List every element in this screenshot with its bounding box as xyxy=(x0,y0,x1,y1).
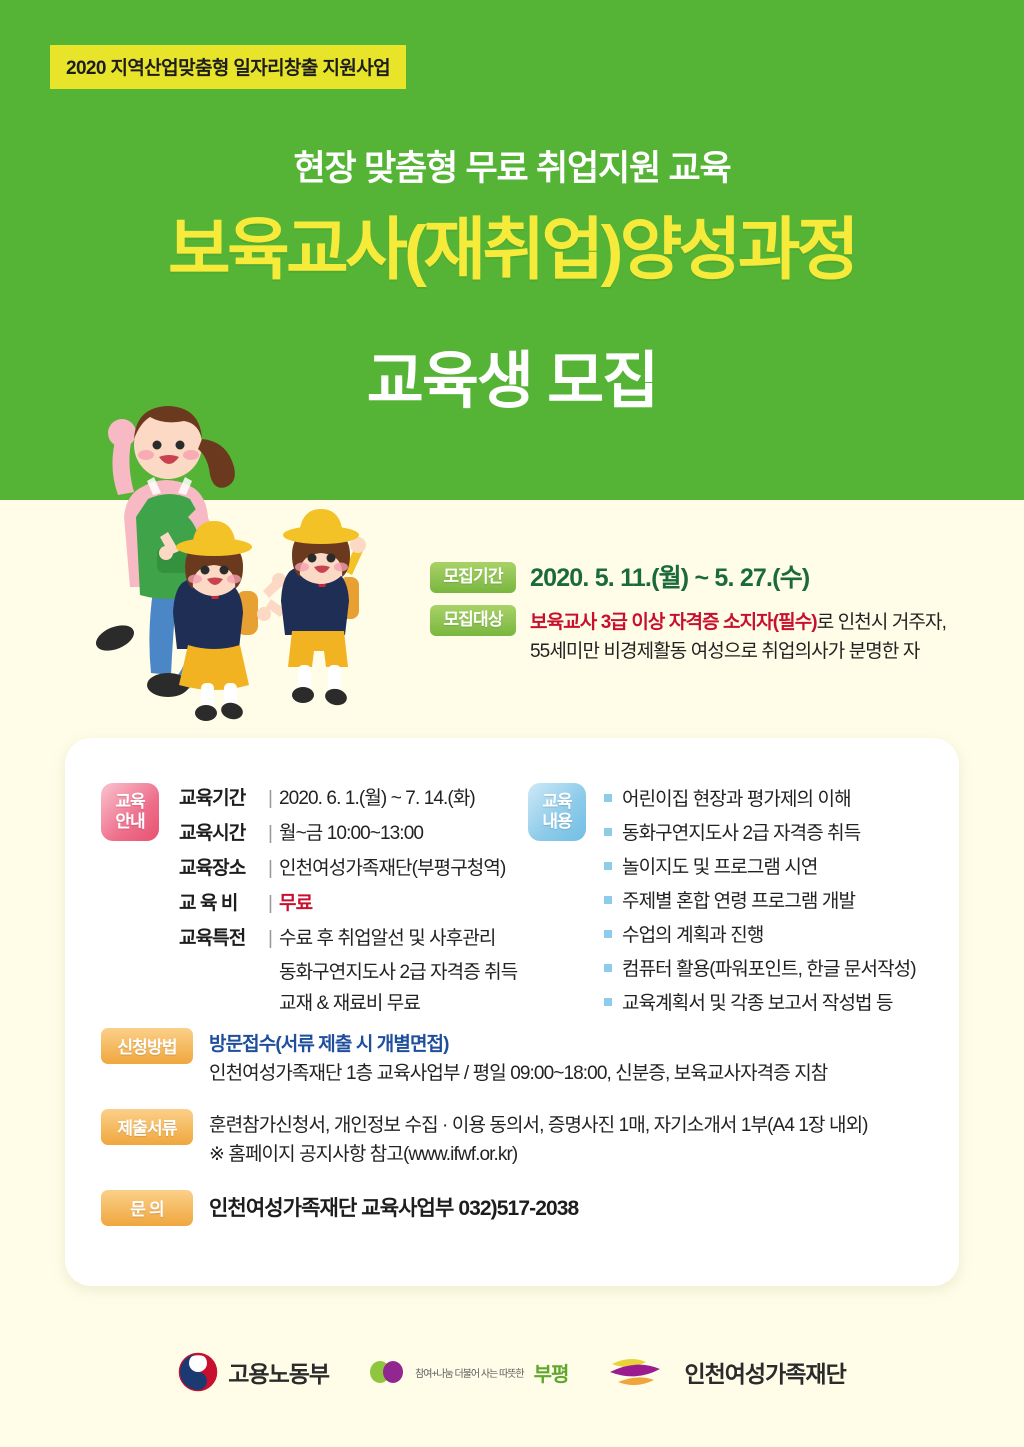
bullet-square-icon xyxy=(604,930,612,938)
curriculum-item: 놀이지도 및 프로그램 시연 xyxy=(604,852,916,879)
ifwf-ribbon-icon xyxy=(608,1354,674,1390)
bullet-square-icon xyxy=(604,794,612,802)
bullet-square-icon xyxy=(604,862,612,870)
education-info-list: 교육기간 | 2020. 6. 1.(월) ~ 7. 14.(화) 교육시간 |… xyxy=(179,783,517,1022)
recruit-target-rest: 로 인천시 거주자, xyxy=(817,612,946,633)
info-columns: 교육 안내 교육기간 | 2020. 6. 1.(월) ~ 7. 14.(화) … xyxy=(65,783,959,1022)
recruit-target-value: 보육교사 3급 이상 자격증 소지자(필수)로 인천시 거주자, 55세미만 비… xyxy=(530,605,946,667)
apply-documents-line1: 훈련참가신청서, 개인정보 수집 · 이용 동의서, 증명사진 1매, 자기소개… xyxy=(209,1111,868,1140)
education-info-badge-line1: 교육 xyxy=(115,792,144,812)
education-benefit-extra: 동화구연지도사 2급 자격증 취득 교재 & 재료비 무료 xyxy=(279,958,517,1020)
recruit-target-line2: 55세미만 비경제활동 여성으로 취업의사가 분명한 자 xyxy=(530,637,946,666)
row-key: 교육시간 xyxy=(179,818,261,845)
row-value: 수료 후 취업알선 및 사후관리 xyxy=(279,923,495,950)
education-info-row: 교 육 비 | 무료 xyxy=(179,888,517,915)
child-figure-right xyxy=(257,509,366,707)
row-separator: | xyxy=(261,823,279,845)
row-key: 교육기간 xyxy=(179,783,261,810)
curriculum-item-label: 교육계획서 및 각종 보고서 작성법 등 xyxy=(622,988,893,1015)
row-key: 교 육 비 xyxy=(179,888,261,915)
curriculum-item-label: 어린이집 현장과 평가제의 이해 xyxy=(622,784,851,811)
curriculum-item-label: 컴퓨터 활용(파워포인트, 한글 문서작성) xyxy=(622,954,916,981)
bullet-square-icon xyxy=(604,828,612,836)
apply-method-label: 신청방법 xyxy=(101,1028,193,1064)
benefit-extra-item: 교재 & 재료비 무료 xyxy=(279,989,517,1020)
recruit-target-label: 모집대상 xyxy=(430,605,516,636)
education-content-column: 교육 내용 어린이집 현장과 평가제의 이해 동화구연지도사 2급 자격증 취득… xyxy=(520,783,959,1022)
apply-inquiry-row: 문 의 인천여성가족재단 교육사업부 032)517-2038 xyxy=(101,1190,931,1226)
row-separator: | xyxy=(261,893,279,915)
education-content-badge: 교육 내용 xyxy=(528,783,586,841)
education-info-column: 교육 안내 교육기간 | 2020. 6. 1.(월) ~ 7. 14.(화) … xyxy=(65,783,520,1022)
poster-subtitle: 현장 맞춤형 무료 취업지원 교육 xyxy=(0,140,1024,191)
apply-block: 신청방법 방문접수(서류 제출 시 개별면접) 인천여성가족재단 1층 교육사업… xyxy=(101,1028,931,1246)
curriculum-item: 컴퓨터 활용(파워포인트, 한글 문서작성) xyxy=(604,954,916,981)
apply-inquiry-value: 인천여성가족재단 교육사업부 032)517-2038 xyxy=(209,1190,578,1222)
benefit-extra-item: 동화구연지도사 2급 자격증 취득 xyxy=(279,958,517,989)
apply-documents-row: 제출서류 훈련참가신청서, 개인정보 수집 · 이용 동의서, 증명사진 1매,… xyxy=(101,1109,931,1170)
education-info-badge: 교육 안내 xyxy=(101,783,159,841)
row-value: 인천여성가족재단(부평구청역) xyxy=(279,853,505,880)
recruit-period-label: 모집기간 xyxy=(430,562,516,593)
logo-bupyeong-label: 부평 xyxy=(534,1358,569,1387)
curriculum-item-label: 주제별 혼합 연령 프로그램 개발 xyxy=(622,886,855,913)
curriculum-item-label: 수업의 계획과 진행 xyxy=(622,920,763,947)
bupyeong-icon xyxy=(369,1359,405,1385)
logo-moel: 고용노동부 xyxy=(178,1352,329,1392)
education-info-row: 교육특전 | 수료 후 취업알선 및 사후관리 xyxy=(179,923,517,950)
moel-taegeuk-icon xyxy=(178,1352,218,1392)
curriculum-item: 어린이집 현장과 평가제의 이해 xyxy=(604,784,916,811)
bullet-square-icon xyxy=(604,896,612,904)
logo-bupyeong-tagline: 참여+나눔 더불어 사는 따뜻한 xyxy=(415,1365,524,1380)
recruit-target-highlight: 보육교사 3급 이상 자격증 소지자(필수) xyxy=(530,612,817,633)
education-content-badge-line1: 교육 xyxy=(542,792,571,812)
program-badge: 2020 지역산업맞춤형 일자리창출 지원사업 xyxy=(50,45,406,89)
apply-method-row: 신청방법 방문접수(서류 제출 시 개별면접) 인천여성가족재단 1층 교육사업… xyxy=(101,1028,931,1089)
curriculum-item: 동화구연지도사 2급 자격증 취득 xyxy=(604,818,916,845)
bullet-square-icon xyxy=(604,964,612,972)
row-key: 교육장소 xyxy=(179,853,261,880)
apply-documents-label: 제출서류 xyxy=(101,1109,193,1145)
curriculum-item-label: 놀이지도 및 프로그램 시연 xyxy=(622,852,818,879)
recruit-target-row: 모집대상 보육교사 3급 이상 자격증 소지자(필수)로 인천시 거주자, 55… xyxy=(430,605,990,667)
info-card: 교육 안내 교육기간 | 2020. 6. 1.(월) ~ 7. 14.(화) … xyxy=(65,738,959,1286)
poster-title-main: 보육교사(재취업)양성과정 xyxy=(0,212,1024,288)
logo-ifwf: 인천여성가족재단 xyxy=(608,1354,845,1390)
row-value: 월~금 10:00~13:00 xyxy=(279,818,423,845)
education-info-row: 교육기간 | 2020. 6. 1.(월) ~ 7. 14.(화) xyxy=(179,783,517,810)
education-content-badge-line2: 내용 xyxy=(542,812,571,832)
curriculum-item: 주제별 혼합 연령 프로그램 개발 xyxy=(604,886,916,913)
row-value: 2020. 6. 1.(월) ~ 7. 14.(화) xyxy=(279,783,475,810)
logo-bupyeong: 참여+나눔 더불어 사는 따뜻한 부평 xyxy=(369,1358,568,1387)
row-separator: | xyxy=(261,928,279,950)
education-info-row: 교육장소 | 인천여성가족재단(부평구청역) xyxy=(179,853,517,880)
logo-moel-label: 고용노동부 xyxy=(228,1355,329,1389)
row-separator: | xyxy=(261,858,279,880)
recruit-period-row: 모집기간 2020. 5. 11.(월) ~ 5. 27.(수) xyxy=(430,562,990,593)
logo-ifwf-label: 인천여성가족재단 xyxy=(684,1355,845,1389)
curriculum-item: 수업의 계획과 진행 xyxy=(604,920,916,947)
apply-inquiry-label: 문 의 xyxy=(101,1190,193,1226)
teacher-and-children-illustration xyxy=(58,395,388,725)
row-value-fee: 무료 xyxy=(279,888,312,915)
apply-method-head: 방문접수(서류 제출 시 개별면접) xyxy=(209,1030,827,1059)
education-info-row: 교육시간 | 월~금 10:00~13:00 xyxy=(179,818,517,845)
apply-method-detail: 인천여성가족재단 1층 교육사업부 / 평일 09:00~18:00, 신분증,… xyxy=(209,1059,827,1088)
row-key: 교육특전 xyxy=(179,923,261,950)
apply-method-body: 방문접수(서류 제출 시 개별면접) 인천여성가족재단 1층 교육사업부 / 평… xyxy=(209,1028,827,1089)
bullet-square-icon xyxy=(604,998,612,1006)
education-info-badge-line2: 안내 xyxy=(115,812,144,832)
recruit-period-value: 2020. 5. 11.(월) ~ 5. 27.(수) xyxy=(530,562,809,593)
apply-documents-body: 훈련참가신청서, 개인정보 수집 · 이용 동의서, 증명사진 1매, 자기소개… xyxy=(209,1109,868,1170)
curriculum-item: 교육계획서 및 각종 보고서 작성법 등 xyxy=(604,988,916,1015)
curriculum-item-label: 동화구연지도사 2급 자격증 취득 xyxy=(622,818,860,845)
education-content-list: 어린이집 현장과 평가제의 이해 동화구연지도사 2급 자격증 취득 놀이지도 … xyxy=(604,783,916,1022)
row-separator: | xyxy=(261,788,279,810)
footer-logos: 고용노동부 참여+나눔 더불어 사는 따뜻한 부평 인천여성가족재단 xyxy=(0,1352,1024,1392)
recruit-info-block: 모집기간 2020. 5. 11.(월) ~ 5. 27.(수) 모집대상 보육… xyxy=(430,562,990,679)
apply-documents-line2[interactable]: ※ 홈페이지 공지사항 참고(www.ifwf.or.kr) xyxy=(209,1140,868,1169)
